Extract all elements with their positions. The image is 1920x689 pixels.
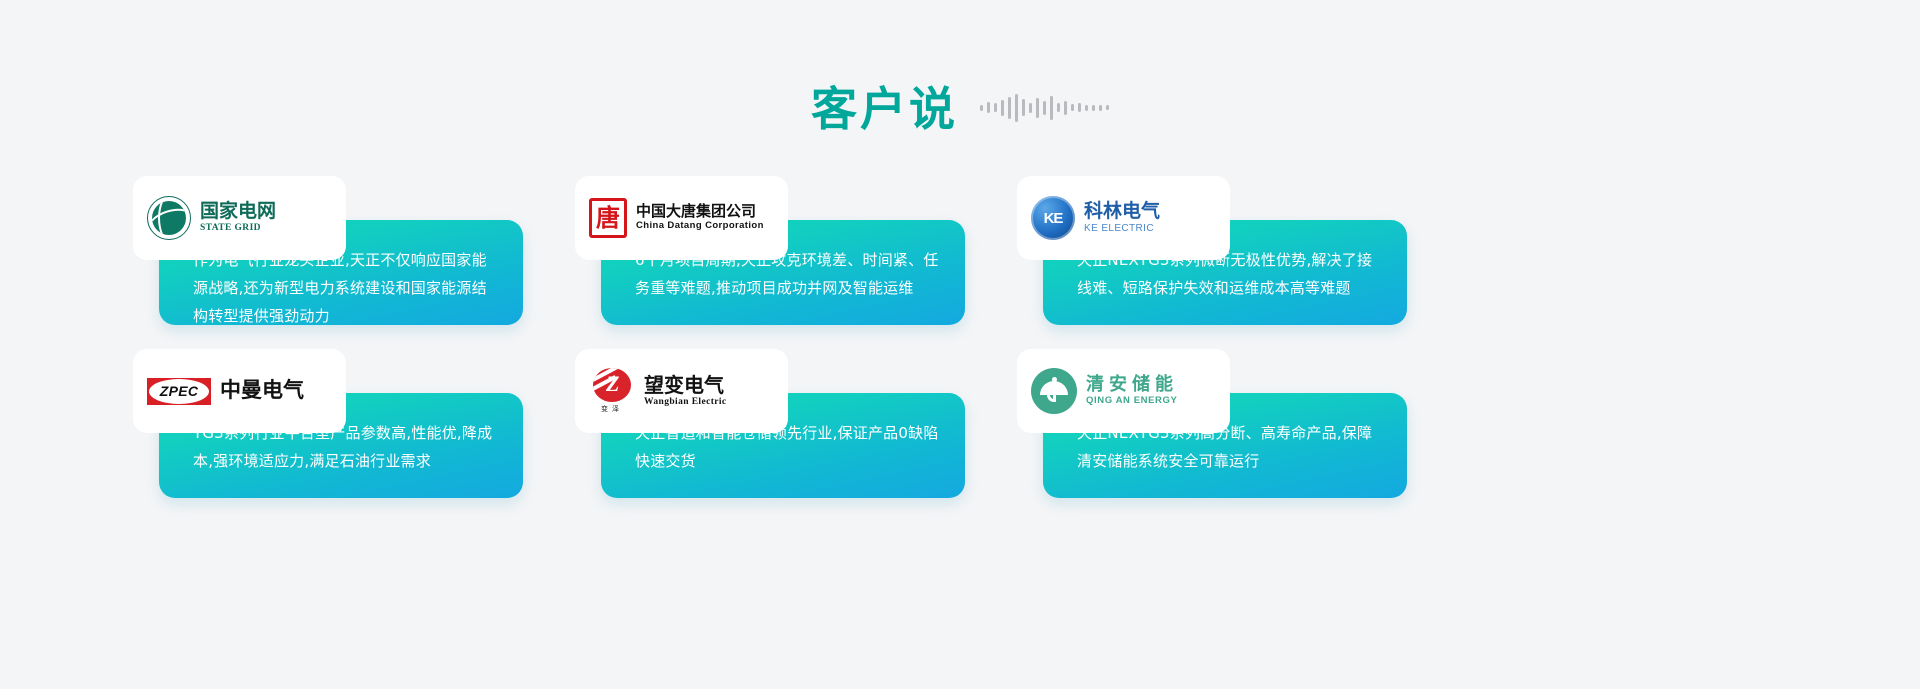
zpec-wordmark: ZPEC (160, 383, 199, 399)
waveform-bar (1015, 94, 1018, 122)
testimonial-card[interactable]: 作为电气行业龙头企业,天正不仅响应国家能源战略,还为新型电力系统建设和国家能源结… (133, 176, 523, 325)
company-logo-plate: KE 科林电气 KE ELECTRIC (1017, 176, 1230, 260)
company-logo-plate: 唐 中国大唐集团公司 China Datang Corporation (575, 176, 788, 260)
datang-seal-icon: 唐 (589, 198, 627, 238)
ke-electric-disc-icon: KE (1031, 196, 1075, 240)
audio-waveform-icon (980, 88, 1109, 132)
company-name-cn: 中曼电气 (220, 379, 304, 403)
waveform-bar (1022, 99, 1025, 116)
waveform-bar (1057, 103, 1060, 112)
waveform-bar (1085, 105, 1088, 111)
waveform-bar (1071, 104, 1074, 111)
company-name-en: China Datang Corporation (636, 220, 764, 232)
waveform-bar (1036, 98, 1039, 118)
wangbian-monogram: Z (606, 373, 619, 395)
testimonial-card[interactable]: 天正智造和智能仓储领先行业,保证产品0缺陷快速交货 Z 变泽 望变电气 Wang… (575, 349, 965, 498)
waveform-bar (1106, 105, 1109, 110)
testimonial-card[interactable]: 天正NEXTG3系列微断无极性优势,解决了接线难、短路保护失效和运维成本高等难题… (1017, 176, 1407, 325)
company-logo-plate: ZPEC 中曼电气 (133, 349, 346, 433)
qingan-umbrella-icon (1031, 368, 1077, 414)
waveform-bar (1001, 100, 1004, 116)
waveform-bar (1099, 105, 1102, 111)
customer-testimonials-page: 客户说 作为电气行业龙头企业,天正不仅响应国家能源战略,还为新型电力系统建设和国… (0, 0, 1920, 689)
company-name-en: STATE GRID (200, 222, 276, 234)
wangbian-sub-glyphs: 变泽 (601, 404, 623, 414)
waveform-bar (1064, 101, 1067, 115)
ke-monogram: KE (1044, 210, 1063, 227)
company-name-en: KE ELECTRIC (1084, 222, 1160, 235)
state-grid-globe-icon (147, 196, 191, 240)
waveform-bar (987, 102, 990, 113)
waveform-bar (1008, 97, 1011, 119)
waveform-bar (1050, 96, 1053, 120)
waveform-bar (1029, 103, 1032, 113)
waveform-bar (1078, 103, 1081, 112)
waveform-bar (994, 103, 997, 112)
company-logo-plate: 国家电网 STATE GRID (133, 176, 346, 260)
section-header: 客户说 (0, 62, 1920, 132)
datang-seal-glyph: 唐 (596, 206, 620, 230)
page-title: 客户说 (811, 86, 958, 132)
company-name-cn: 望变电气 (644, 374, 727, 396)
wangbian-disc-icon: Z 变泽 (589, 368, 635, 414)
company-name-cn: 中国大唐集团公司 (636, 203, 764, 220)
testimonial-card-grid: 作为电气行业龙头企业,天正不仅响应国家能源战略,还为新型电力系统建设和国家能源结… (133, 176, 1787, 498)
waveform-bar (980, 105, 983, 111)
company-name-cn: 清安储能 (1086, 375, 1178, 395)
waveform-bar (1092, 105, 1095, 111)
company-name-en: QING AN ENERGY (1086, 395, 1178, 407)
waveform-bar (1043, 101, 1046, 115)
testimonial-card[interactable]: TG3系列行业平台型产品参数高,性能优,降成本,强环境适应力,满足石油行业需求 … (133, 349, 523, 498)
company-name-cn: 国家电网 (200, 201, 276, 222)
company-name-en: Wangbian Electric (644, 396, 727, 408)
company-logo-plate: 清安储能 QING AN ENERGY (1017, 349, 1230, 433)
company-logo-plate: Z 变泽 望变电气 Wangbian Electric (575, 349, 788, 433)
testimonial-card[interactable]: 6个月项目周期,天正攻克环境差、时间紧、任务重等难题,推动项目成功并网及智能运维… (575, 176, 965, 325)
zpec-badge-icon: ZPEC (147, 378, 211, 405)
company-name-cn: 科林电气 (1084, 201, 1160, 222)
testimonial-card[interactable]: 天正NEXTG3系列高分断、高寿命产品,保障清安储能系统安全可靠运行 清安储能 … (1017, 349, 1407, 498)
